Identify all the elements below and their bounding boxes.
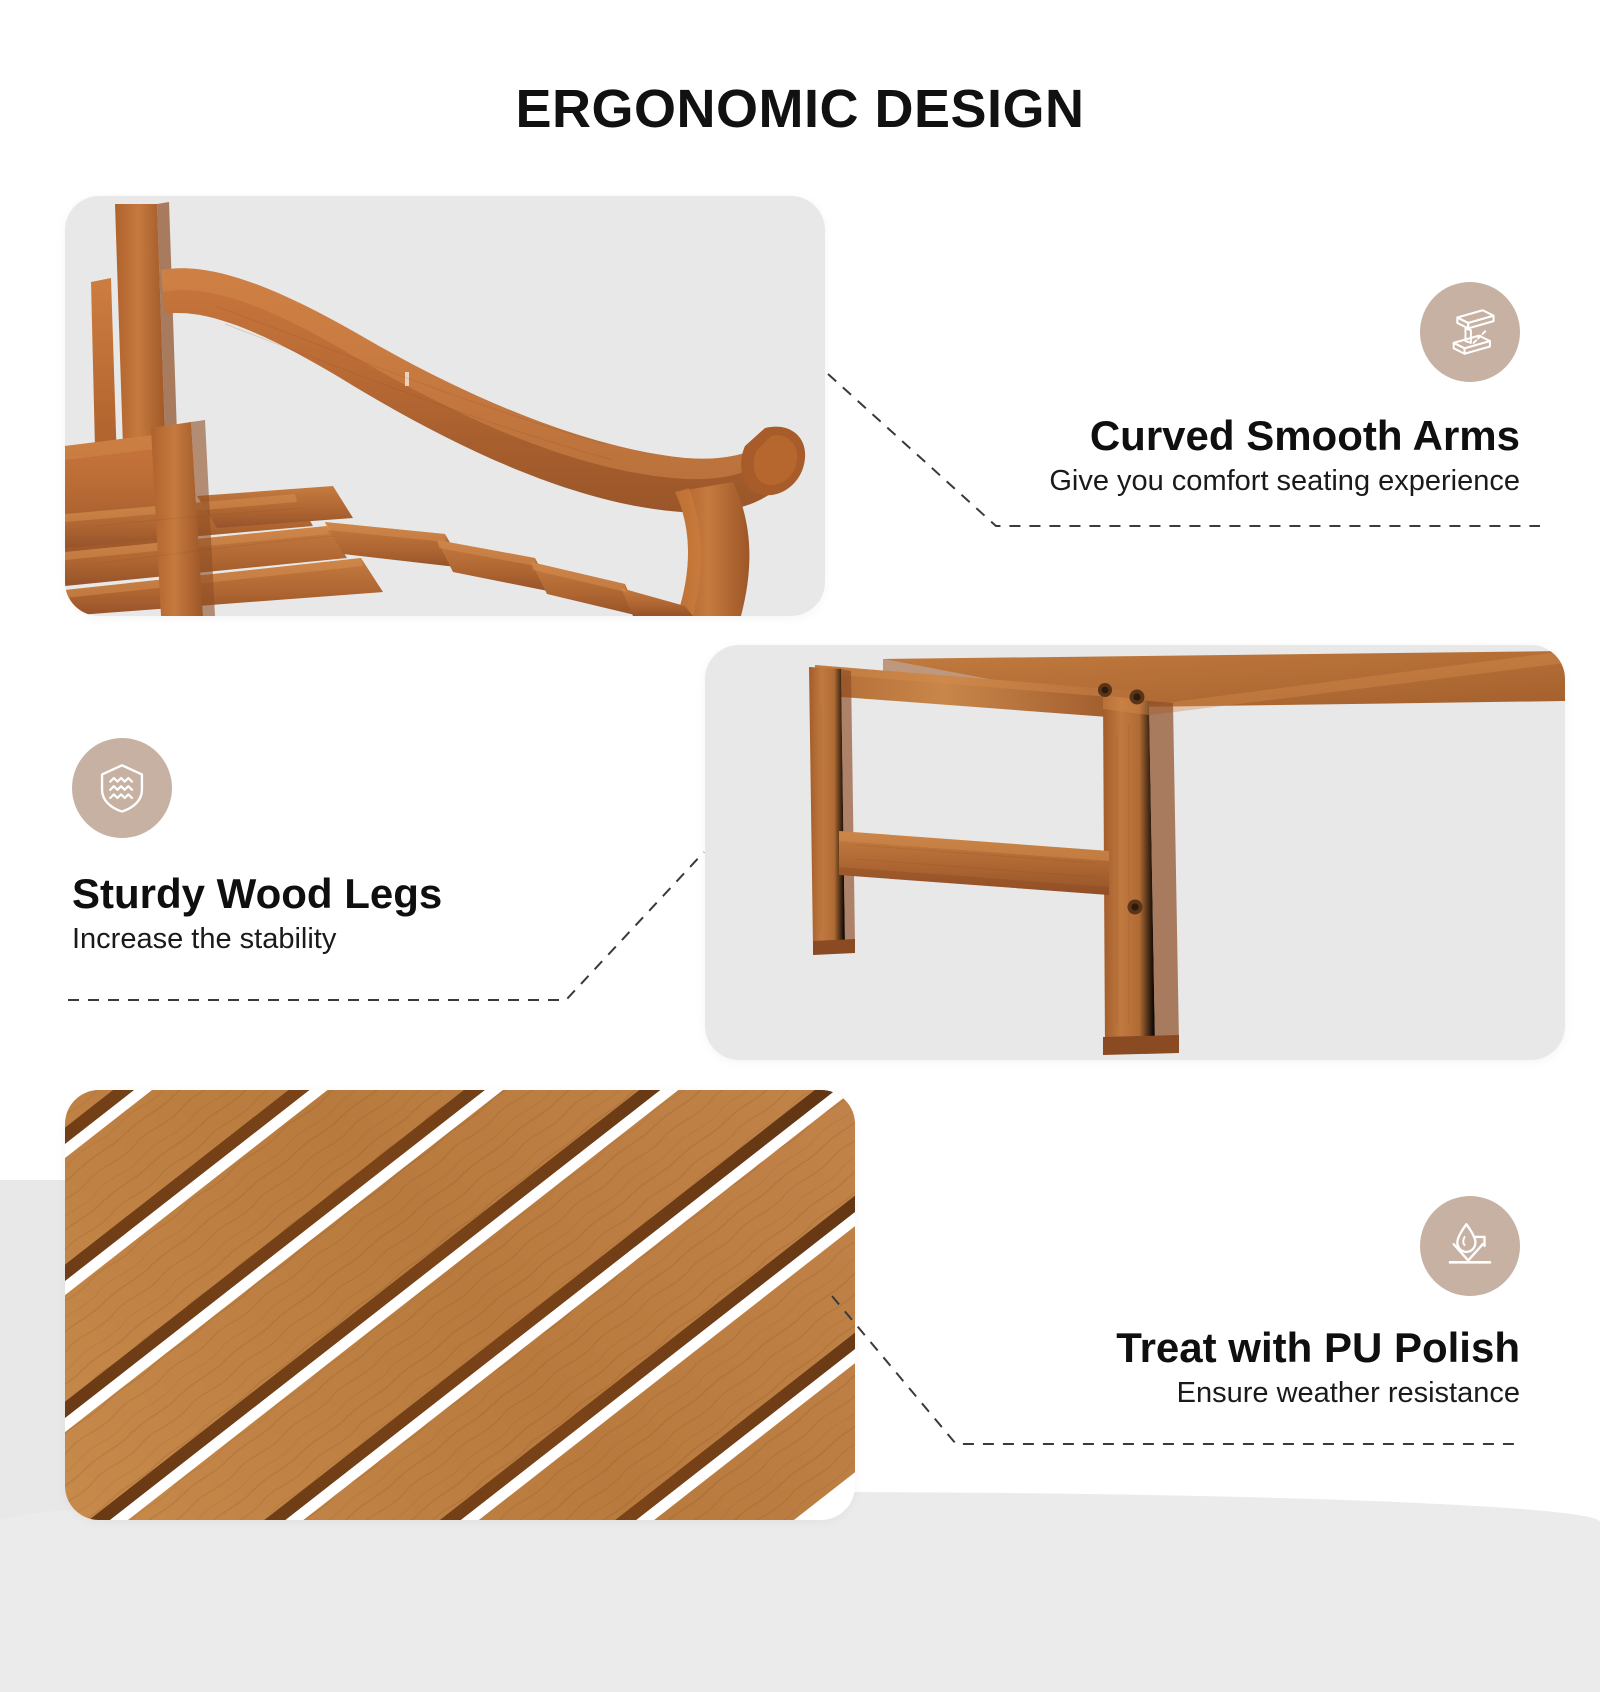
beam-icon-circle (1420, 282, 1520, 382)
photo-card-treat-with-pu-polish (65, 1090, 855, 1520)
shield-waves-icon-circle (72, 738, 172, 838)
photo-card-sturdy-wood-legs (705, 645, 1565, 1060)
feature-title: Curved Smooth Arms (900, 412, 1520, 459)
water-repellent-icon-circle (1420, 1196, 1520, 1296)
water-repellent-icon (1441, 1217, 1499, 1275)
beam-icon (1441, 303, 1499, 361)
feature-subtitle: Give you comfort seating experience (900, 463, 1520, 499)
feature-title: Sturdy Wood Legs (72, 870, 692, 917)
feature-sturdy-wood-legs: Sturdy Wood Legs Increase the stability (72, 738, 692, 957)
feature-title: Treat with PU Polish (920, 1324, 1520, 1371)
background-shape-bottom (0, 1492, 1600, 1692)
shield-waves-icon (93, 759, 151, 817)
page-title: ERGONOMIC DESIGN (0, 78, 1600, 140)
feature-curved-smooth-arms: Curved Smooth Arms Give you comfort seat… (900, 282, 1520, 499)
feature-treat-with-pu-polish: Treat with PU Polish Ensure weather resi… (920, 1196, 1520, 1411)
feature-subtitle: Increase the stability (72, 921, 692, 957)
photo-card-curved-smooth-arms (65, 196, 825, 616)
feature-subtitle: Ensure weather resistance (920, 1375, 1520, 1411)
